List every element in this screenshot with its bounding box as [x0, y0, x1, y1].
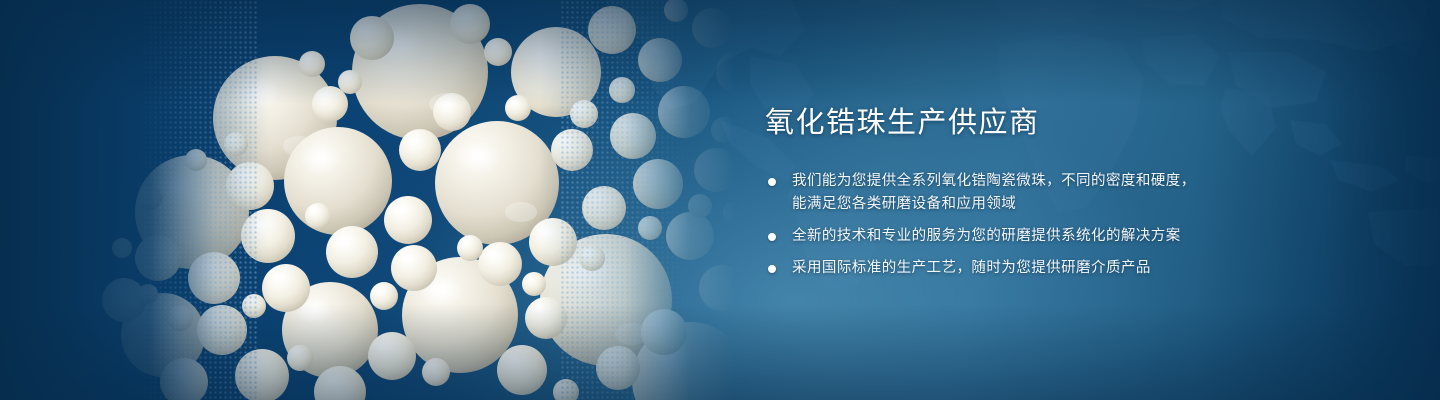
- feature-bullet-3-line-1: 采用国际标准的生产工艺，随时为您提供研磨介质产品: [792, 257, 1222, 280]
- feature-bullet-list: 我们能为您提供全系列氧化锆陶瓷微珠，不同的密度和硬度， 能满足您各类研磨设备和应…: [765, 170, 1385, 280]
- feature-bullet-1-line-1: 我们能为您提供全系列氧化锆陶瓷微珠，不同的密度和硬度，: [792, 170, 1222, 193]
- bullet-dot-icon: [768, 233, 776, 241]
- feature-bullet-3: 采用国际标准的生产工艺，随时为您提供研磨介质产品: [765, 257, 1222, 280]
- feature-bullet-1: 我们能为您提供全系列氧化锆陶瓷微珠，不同的密度和硬度， 能满足您各类研磨设备和应…: [765, 170, 1222, 216]
- feature-bullet-2-line-1: 全新的技术和专业的服务为您的研磨提供系统化的解决方案: [792, 225, 1222, 248]
- bullet-dot-icon: [768, 265, 776, 273]
- banner-copy-block: 氧化锆珠生产供应商 我们能为您提供全系列氧化锆陶瓷微珠，不同的密度和硬度， 能满…: [765, 106, 1385, 280]
- hero-banner: 氧化锆珠生产供应商 我们能为您提供全系列氧化锆陶瓷微珠，不同的密度和硬度， 能满…: [0, 0, 1440, 400]
- banner-headline: 氧化锆珠生产供应商: [765, 106, 1385, 140]
- feature-bullet-1-line-2: 能满足您各类研磨设备和应用领域: [792, 193, 1222, 216]
- feature-bullet-2: 全新的技术和专业的服务为您的研磨提供系统化的解决方案: [765, 225, 1222, 248]
- bullet-dot-icon: [768, 178, 776, 186]
